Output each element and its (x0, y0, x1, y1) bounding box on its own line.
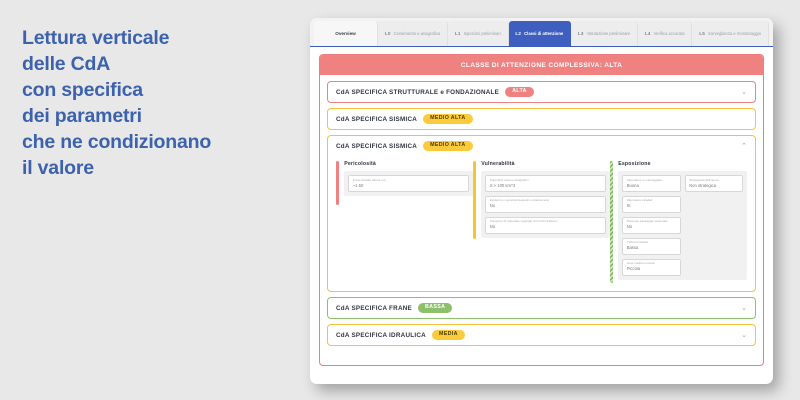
tab-code: L4 (645, 31, 651, 36)
overall-banner-value: ALTA (604, 62, 622, 69)
parameter-label: Strategicità dell'opera (689, 179, 738, 183)
tab-code: L1 (455, 31, 461, 36)
accordion-title: CdA SPECIFICA SISMICA (336, 143, 417, 150)
accordion-body: PericolositàFonte fluviale attesa (m)~1.… (328, 156, 755, 291)
tab-code: L3 (578, 31, 584, 36)
column-severity-bar (610, 161, 613, 283)
parameter-label: Superficie bacino idrografico (490, 179, 602, 183)
parameter-field[interactable]: Alternative su carreggiataBuona (622, 175, 680, 192)
parameter-field[interactable]: TGM territorialeBassa (622, 238, 680, 255)
tab-l4[interactable]: L4Verifica accurata (638, 21, 692, 46)
tab-code: L5 (699, 31, 705, 36)
parameter-field[interactable]: Strategicità dell'operaNon strategica (685, 175, 743, 192)
parameter-label: Presente passaggio pedonale (627, 220, 676, 224)
parameter-field[interactable]: Alternative stradaliSi (622, 196, 680, 213)
accordion-yellow: CdA SPECIFICA IDRAULICAMEDIA⌄ (327, 324, 756, 346)
column-title: Vulnerabilità (481, 161, 610, 167)
accordion-header[interactable]: CdA SPECIFICA IDRAULICAMEDIA⌄ (328, 325, 755, 345)
parameter-field[interactable]: Luce media correntePiccola (622, 259, 680, 276)
tab-code: L0 (385, 31, 391, 36)
accordion-yellow: CdA SPECIFICA SISMICAMEDIO ALTA⌃Pericolo… (327, 135, 756, 292)
parameter-value: No (490, 225, 602, 230)
accordion-red: CdA SPECIFICA STRUTTURALE e FONDAZIONALE… (327, 81, 756, 103)
workflow-tab-bar[interactable]: OverviewL0Censimento e anagraficaL1Ispez… (310, 18, 773, 47)
slide-caption: Lettura verticaledelle CdAcon specificad… (22, 26, 277, 182)
tab-label: Verifica accurata (654, 31, 685, 36)
tab-label: Censimento e anagrafica (394, 31, 441, 36)
caption-line: Lettura verticale (22, 26, 277, 52)
caption-line: delle CdA (22, 52, 277, 78)
accordion-header[interactable]: CdA SPECIFICA SISMICAMEDIO ALTA (328, 109, 755, 129)
tab-label: Ispezioni preliminari (464, 31, 501, 36)
chevron-down-icon[interactable]: ⌄ (741, 89, 747, 96)
column-title: Esposizione (618, 161, 747, 167)
attention-class-badge: ALTA (505, 87, 534, 97)
caption-line: che ne condizionano (22, 130, 277, 156)
parameter-field[interactable]: Trasporto di materiale vegetale di tronc… (485, 217, 606, 234)
parameter-label: Luce media corrente (627, 262, 676, 266)
accordion-title: CdA SPECIFICA SISMICA (336, 116, 417, 123)
attention-class-badge: MEDIA (432, 330, 465, 340)
accordion-header[interactable]: CdA SPECIFICA SISMICAMEDIO ALTA⌃ (328, 136, 755, 156)
parameter-label: Alternative su carreggiata (627, 179, 676, 183)
tab-label: Overview (335, 31, 355, 37)
parameter-field[interactable]: Fonte fluviale attesa (m)~1.50 (348, 175, 469, 192)
overall-attention-class-banner: CLASSE DI ATTENZIONE COMPLESSIVA: ALTA (320, 55, 763, 75)
accordion-green: CdA SPECIFICA FRANEBASSA⌄ (327, 297, 756, 319)
parameter-field-group: Superficie bacino idrograficoS > 100 km^… (481, 171, 610, 238)
tab-code: L2 (515, 31, 521, 36)
accordion-title: CdA SPECIFICA STRUTTURALE e FONDAZIONALE (336, 89, 499, 96)
parameter-value: No (627, 225, 676, 230)
parameter-subcolumn: Fonte fluviale attesa (m)~1.50 (348, 175, 469, 192)
accordion-header[interactable]: CdA SPECIFICA FRANEBASSA⌄ (328, 298, 755, 318)
tab-l2[interactable]: L2Classi di attenzione (509, 21, 572, 46)
parameter-field[interactable]: Evidenze o accertati depositi o sbarrame… (485, 196, 606, 213)
overall-banner-prefix: CLASSE DI ATTENZIONE COMPLESSIVA: (461, 62, 604, 69)
parameter-value: Si (627, 204, 676, 209)
parameter-label: Evidenze o accertati depositi o sbarrame… (490, 199, 602, 203)
tab-overview[interactable]: Overview (314, 21, 378, 46)
parameter-field[interactable]: Presente passaggio pedonaleNo (622, 217, 680, 234)
parameter-subcolumn: Superficie bacino idrograficoS > 100 km^… (485, 175, 606, 234)
parameter-value: Bassa (627, 246, 676, 251)
parameter-label: Trasporto di materiale vegetale di tronc… (490, 220, 602, 224)
parameter-value: Piccola (627, 267, 676, 272)
parameter-field-group: Alternative su carreggiataBuonaAlternati… (618, 171, 747, 280)
parameter-value: ~1.50 (353, 184, 465, 189)
parameter-value: S > 100 km^2 (490, 184, 602, 189)
accordion-header[interactable]: CdA SPECIFICA STRUTTURALE e FONDAZIONALE… (328, 82, 755, 102)
chevron-up-icon[interactable]: ⌃ (741, 143, 747, 150)
tab-l0[interactable]: L0Censimento e anagrafica (378, 21, 448, 46)
parameter-label: TGM territoriale (627, 241, 676, 245)
attention-class-card: CLASSE DI ATTENZIONE COMPLESSIVA: ALTA C… (319, 54, 764, 366)
attention-class-badge: MEDIO ALTA (423, 141, 472, 151)
parameter-column: VulnerabilitàSuperficie bacino idrografi… (473, 161, 610, 283)
column-content: VulnerabilitàSuperficie bacino idrografi… (481, 161, 610, 283)
column-content: PericolositàFonte fluviale attesa (m)~1.… (344, 161, 473, 283)
column-title: Pericolosità (344, 161, 473, 167)
column-severity-bar (336, 161, 339, 205)
parameter-value: Buona (627, 184, 676, 189)
parameter-column: EsposizioneAlternative su carreggiataBuo… (610, 161, 747, 283)
chevron-down-icon[interactable]: ⌄ (741, 305, 747, 312)
parameter-subcolumn: Alternative su carreggiataBuonaAlternati… (622, 175, 680, 276)
accordion-title: CdA SPECIFICA IDRAULICA (336, 332, 426, 339)
tab-label: Classi di attenzione (524, 31, 563, 36)
attention-class-badge: BASSA (418, 303, 452, 313)
parameter-label: Fonte fluviale attesa (m) (353, 179, 465, 183)
app-window: OverviewL0Censimento e anagraficaL1Ispez… (310, 18, 773, 384)
chevron-down-icon[interactable]: ⌄ (741, 332, 747, 339)
attention-class-badge: MEDIO ALTA (423, 114, 472, 124)
tab-label: Valutazione preliminare (587, 31, 630, 36)
parameter-value: Non strategica (689, 184, 738, 189)
tab-l5[interactable]: L5Sorveglianza e monitoraggio (692, 21, 769, 46)
column-content: EsposizioneAlternative su carreggiataBuo… (618, 161, 747, 283)
tab-l3[interactable]: L3Valutazione preliminare (571, 21, 638, 46)
accordion-yellow: CdA SPECIFICA SISMICAMEDIO ALTA (327, 108, 756, 130)
parameter-column: PericolositàFonte fluviale attesa (m)~1.… (336, 161, 473, 283)
caption-line: con specifica (22, 78, 277, 104)
tab-label: Sorveglianza e monitoraggio (708, 31, 761, 36)
accordion-title: CdA SPECIFICA FRANE (336, 305, 412, 312)
parameter-label: Alternative stradali (627, 199, 676, 203)
parameter-subcolumn: Strategicità dell'operaNon strategica (685, 175, 743, 192)
tab-l1[interactable]: L1Ispezioni preliminari (448, 21, 508, 46)
caption-line: dei parametri (22, 104, 277, 130)
column-severity-bar (473, 161, 476, 239)
parameter-value: No (490, 204, 602, 209)
attention-class-accordion-list: CdA SPECIFICA STRUTTURALE e FONDAZIONALE… (320, 75, 763, 353)
parameter-field-group: Fonte fluviale attesa (m)~1.50 (344, 171, 473, 196)
parameter-field[interactable]: Superficie bacino idrograficoS > 100 km^… (485, 175, 606, 192)
caption-line: il valore (22, 156, 277, 182)
